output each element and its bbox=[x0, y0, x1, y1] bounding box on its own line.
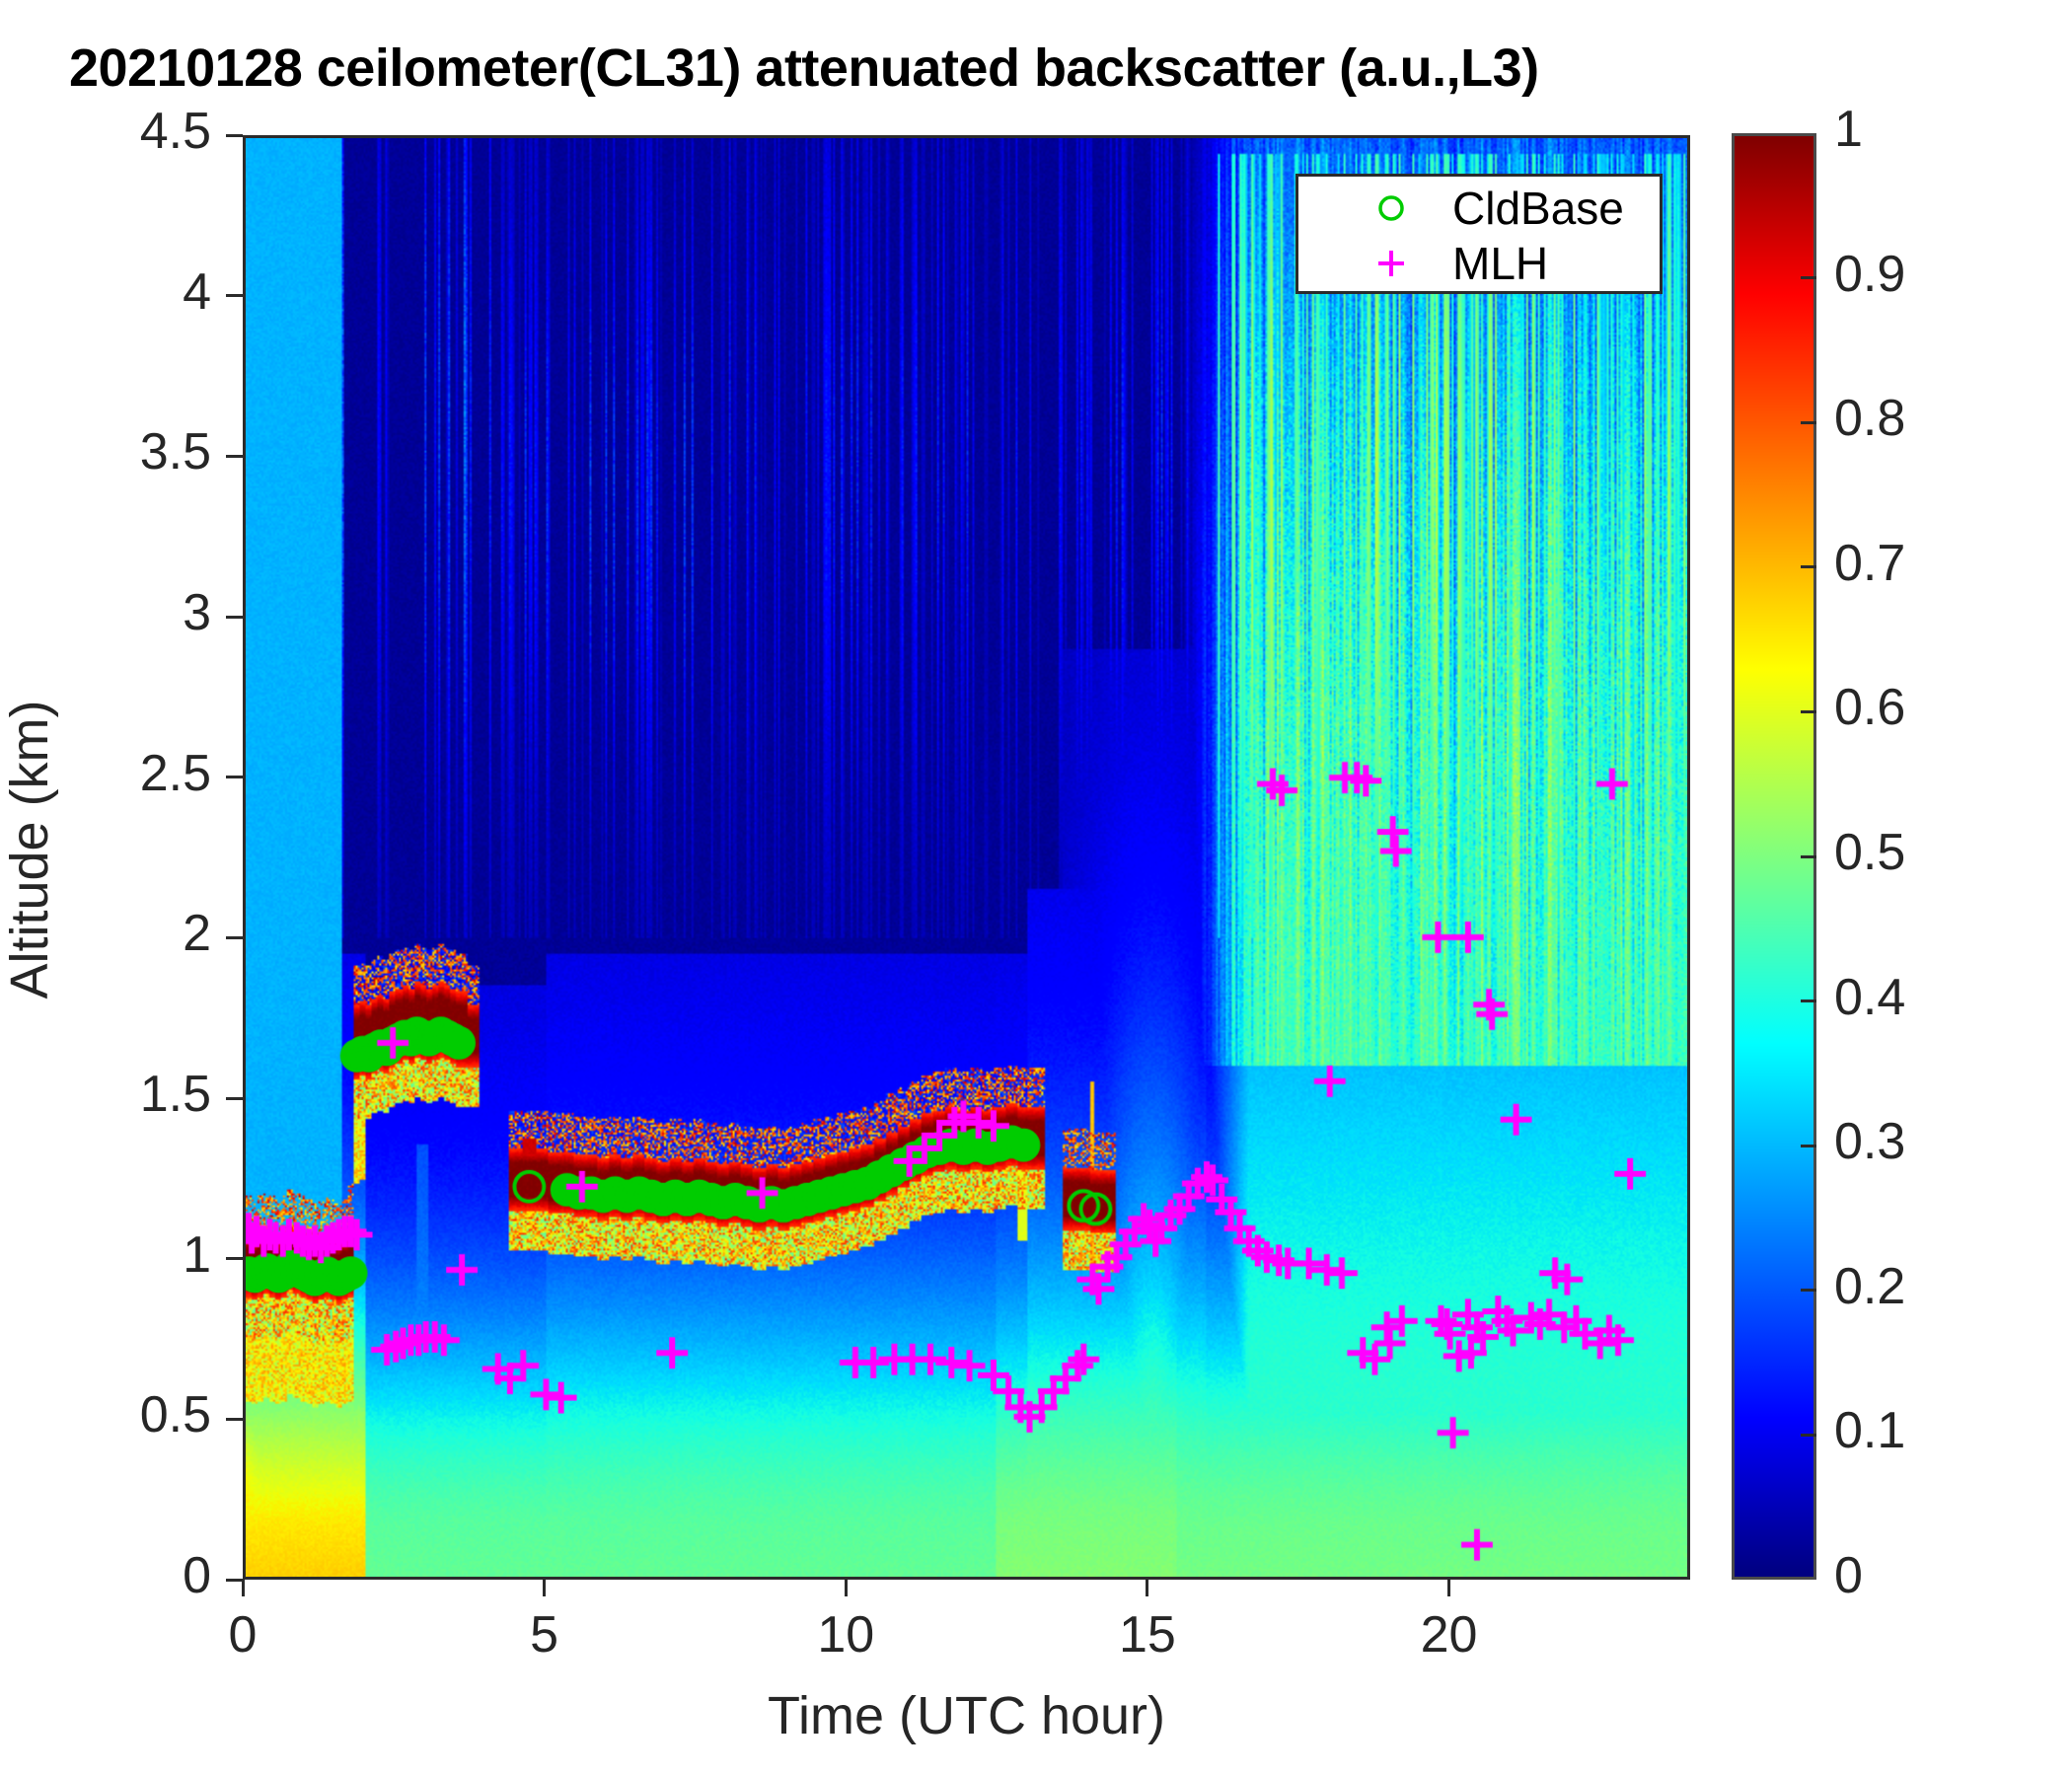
x-tick-label: 20 bbox=[1351, 1605, 1548, 1665]
legend-label-cldbase: CldBase bbox=[1452, 181, 1624, 236]
y-tick-label: 0.5 bbox=[0, 1385, 211, 1444]
legend-box[interactable]: CldBase MLH bbox=[1295, 174, 1663, 294]
colorbar-tick-label: 0.6 bbox=[1834, 678, 1905, 737]
x-tick-mark bbox=[1447, 1580, 1450, 1596]
y-tick-label: 3.5 bbox=[0, 422, 211, 481]
legend-entry-mlh[interactable]: MLH bbox=[1298, 236, 1660, 291]
x-axis-label: Time (UTC hour) bbox=[243, 1685, 1690, 1746]
colorbar-tick-label: 0.1 bbox=[1834, 1401, 1905, 1460]
y-tick-mark bbox=[226, 1418, 243, 1421]
colorbar-tick-label: 0.8 bbox=[1834, 389, 1905, 448]
x-tick-label: 15 bbox=[1049, 1605, 1246, 1665]
colorbar-tick-mark bbox=[1801, 1434, 1816, 1437]
chart-title: 20210128 ceilometer(CL31) attenuated bac… bbox=[69, 37, 1539, 99]
colorbar-tick-mark bbox=[1801, 999, 1816, 1002]
colorbar-tick-mark bbox=[1801, 276, 1816, 279]
y-tick-mark bbox=[226, 936, 243, 939]
colorbar-tick-label: 0.9 bbox=[1834, 245, 1905, 304]
y-tick-label: 4 bbox=[0, 262, 211, 322]
y-tick-mark bbox=[226, 455, 243, 458]
y-tick-label: 4.5 bbox=[0, 102, 211, 161]
y-tick-mark bbox=[226, 294, 243, 297]
y-tick-label: 0 bbox=[0, 1546, 211, 1605]
x-tick-label: 0 bbox=[144, 1605, 341, 1665]
colorbar-tick-mark bbox=[1801, 1289, 1816, 1292]
plot-area[interactable] bbox=[243, 135, 1690, 1580]
x-tick-mark bbox=[543, 1580, 546, 1596]
colorbar-tick-mark bbox=[1801, 855, 1816, 858]
colorbar-tick-label: 0.3 bbox=[1834, 1112, 1905, 1171]
y-tick-mark bbox=[226, 616, 243, 619]
colorbar-tick-mark bbox=[1801, 710, 1816, 713]
x-tick-mark bbox=[845, 1580, 848, 1596]
figure-root: 20210128 ceilometer(CL31) attenuated bac… bbox=[0, 0, 2072, 1776]
legend-entry-cldbase[interactable]: CldBase bbox=[1298, 181, 1660, 236]
x-tick-label: 10 bbox=[747, 1605, 944, 1665]
plus-marker-icon bbox=[1371, 236, 1411, 291]
circle-marker-icon bbox=[1371, 181, 1411, 236]
y-tick-mark bbox=[226, 134, 243, 137]
y-axis-label: Altitude (km) bbox=[0, 593, 60, 1106]
marker-overlay bbox=[246, 138, 1687, 1577]
colorbar-tick-label: 0.5 bbox=[1834, 823, 1905, 882]
colorbar-tick-label: 0 bbox=[1834, 1546, 1863, 1605]
colorbar-tick-label: 0.2 bbox=[1834, 1257, 1905, 1316]
colorbar-tick-label: 0.7 bbox=[1834, 534, 1905, 593]
x-tick-label: 5 bbox=[446, 1605, 643, 1665]
colorbar-tick-mark bbox=[1801, 421, 1816, 424]
x-tick-mark bbox=[242, 1580, 245, 1596]
colorbar-tick-label: 0.4 bbox=[1834, 968, 1905, 1027]
y-tick-label: 1 bbox=[0, 1225, 211, 1285]
y-tick-mark bbox=[226, 1579, 243, 1582]
colorbar-tick-mark bbox=[1801, 1145, 1816, 1147]
colorbar-tick-mark bbox=[1801, 565, 1816, 568]
y-tick-mark bbox=[226, 1257, 243, 1260]
x-tick-mark bbox=[1146, 1580, 1148, 1596]
y-tick-mark bbox=[226, 776, 243, 778]
legend-label-mlh: MLH bbox=[1452, 236, 1548, 291]
colorbar-tick-label: 1 bbox=[1834, 100, 1863, 159]
y-tick-mark bbox=[226, 1097, 243, 1100]
